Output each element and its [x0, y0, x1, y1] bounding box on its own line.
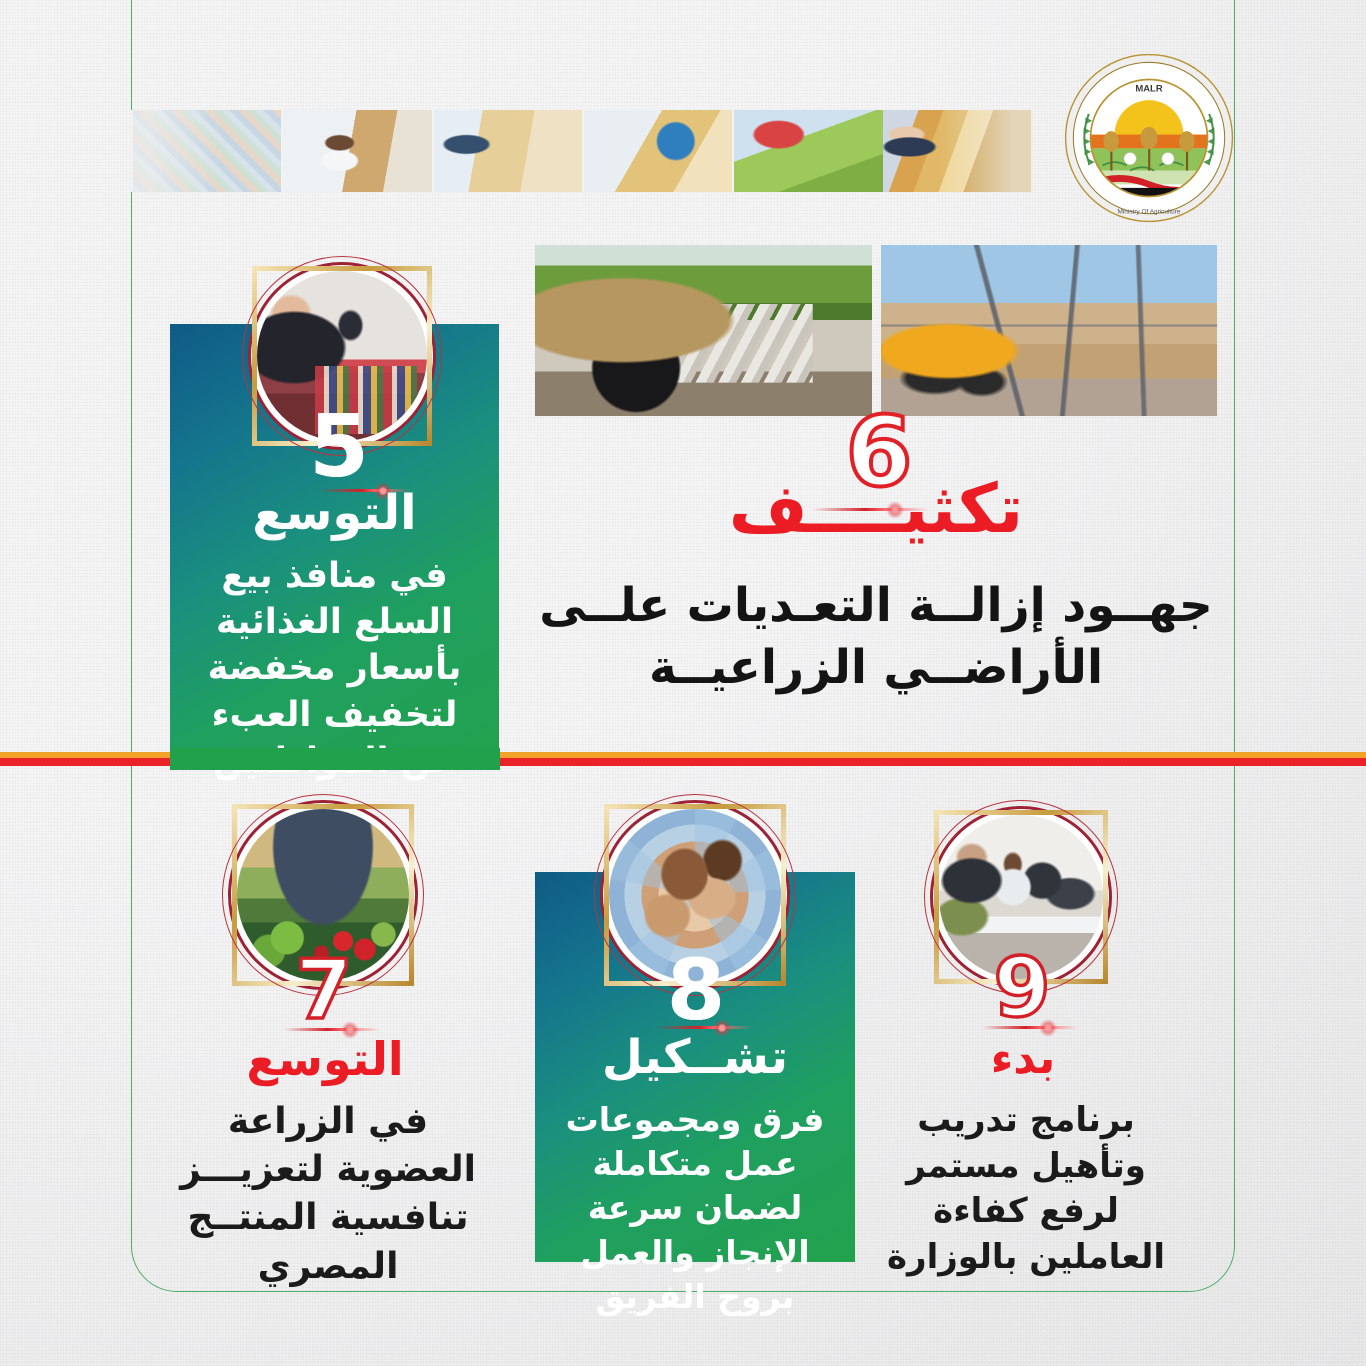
card-5-lead: التوسع — [170, 487, 499, 541]
card-6-lead: تكثيــــف — [535, 470, 1217, 549]
card-9-body: برنامج تدريب وتأهيل مستمر لرفع كفاءة الع… — [876, 1098, 1176, 1280]
card-9-number: 9 — [990, 948, 1052, 1030]
card-6-photo-row — [535, 245, 1217, 416]
card-6-photo-loader-structure — [881, 245, 1218, 416]
svg-text:MALR: MALR — [1135, 84, 1162, 95]
card-5-number: 5 — [308, 404, 368, 490]
card-6-photo-loader-blocks — [535, 245, 872, 416]
svg-text:Ministry Of Agriculture: Ministry Of Agriculture — [1118, 209, 1181, 216]
card-9-lead: بدء — [880, 1034, 1166, 1083]
card-7-lead: التوسع — [160, 1034, 490, 1086]
banner-edge-fade — [131, 110, 1031, 192]
card-7-body: في الزراعة العضوية لتعزيـــز تنافسية الم… — [160, 1098, 496, 1291]
card-7-number-spark — [284, 1028, 380, 1031]
infographic-page: MALR Ministry Of Agriculture 5 التوسع في… — [0, 0, 1366, 1366]
card-8-lead: تشــكيل — [535, 1032, 855, 1085]
card-6-body: جهــود إزالــة التعـديات علــى الأراضــي… — [535, 575, 1217, 699]
malr-ministry-seal: MALR Ministry Of Agriculture — [1063, 52, 1235, 224]
card-9-number-spark — [982, 1026, 1078, 1029]
photo-collage-banner — [131, 110, 1031, 192]
card-8-body: فرق ومجموعات عمل متكاملة لضمان سرعة الإن… — [541, 1098, 849, 1319]
card-8-number-spark — [656, 1026, 752, 1029]
card-7-number: 7 — [292, 950, 354, 1032]
divider-gap-over-card-5 — [170, 748, 500, 770]
